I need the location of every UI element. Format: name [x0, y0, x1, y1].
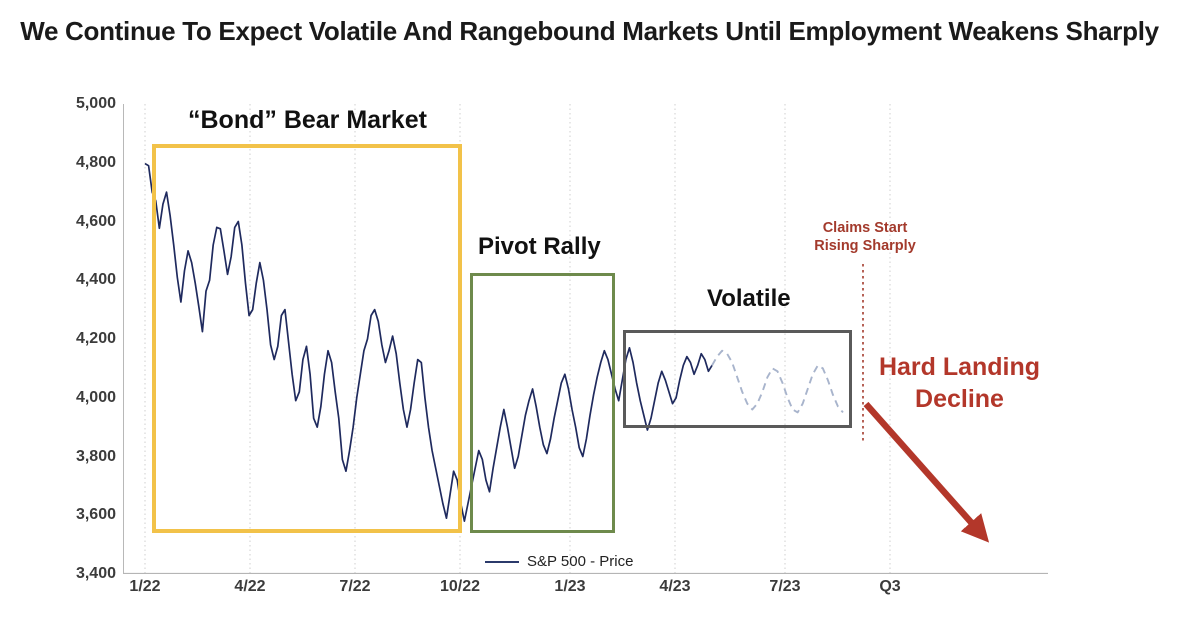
- x-tick-label: 7/22: [305, 578, 405, 596]
- page-title: We Continue To Expect Volatile And Range…: [0, 16, 1179, 47]
- hard-landing-line-2: Decline: [872, 383, 1047, 415]
- slide-canvas: We Continue To Expect Volatile And Range…: [0, 0, 1179, 633]
- y-tick-label: 4,400: [46, 271, 116, 289]
- x-tick-label: 10/22: [410, 578, 510, 596]
- x-tick-label: 4/22: [200, 578, 300, 596]
- legend-label-sp500: S&P 500 - Price: [527, 553, 633, 570]
- bond-bear-market-box: [152, 144, 462, 533]
- hard-landing-decline-annotation: Hard Landing Decline: [872, 351, 1047, 415]
- y-axis: 5,000 4,800 4,600 4,400 4,200 4,000 3,80…: [40, 104, 116, 574]
- pivot-rally-label: Pivot Rally: [478, 233, 601, 261]
- chart-legend: S&P 500 - Price: [485, 553, 633, 570]
- claims-start-rising-annotation: Claims Start Rising Sharply: [790, 219, 940, 255]
- claims-line-2: Rising Sharply: [790, 237, 940, 255]
- y-tick-label: 4,600: [46, 213, 116, 231]
- pivot-rally-box: [470, 273, 615, 533]
- hard-landing-line-1: Hard Landing: [872, 351, 1047, 383]
- y-tick-label: 4,000: [46, 389, 116, 407]
- bond-bear-market-label: “Bond” Bear Market: [188, 106, 427, 135]
- x-tick-label: 7/23: [735, 578, 835, 596]
- y-tick-label: 4,800: [46, 154, 116, 172]
- x-tick-label: Q3: [840, 578, 940, 596]
- x-axis: 1/22 4/22 7/22 10/22 1/23 4/23 7/23 Q3: [0, 578, 1179, 606]
- volatile-box: [623, 330, 852, 428]
- x-tick-label: 4/23: [625, 578, 725, 596]
- y-tick-label: 5,000: [46, 95, 116, 113]
- y-tick-label: 3,800: [46, 448, 116, 466]
- y-tick-label: 4,200: [46, 330, 116, 348]
- y-tick-label: 3,600: [46, 506, 116, 524]
- legend-line-swatch: [485, 561, 519, 563]
- volatile-label: Volatile: [707, 285, 791, 313]
- x-tick-label: 1/23: [520, 578, 620, 596]
- x-tick-label: 1/22: [95, 578, 195, 596]
- claims-line-1: Claims Start: [790, 219, 940, 237]
